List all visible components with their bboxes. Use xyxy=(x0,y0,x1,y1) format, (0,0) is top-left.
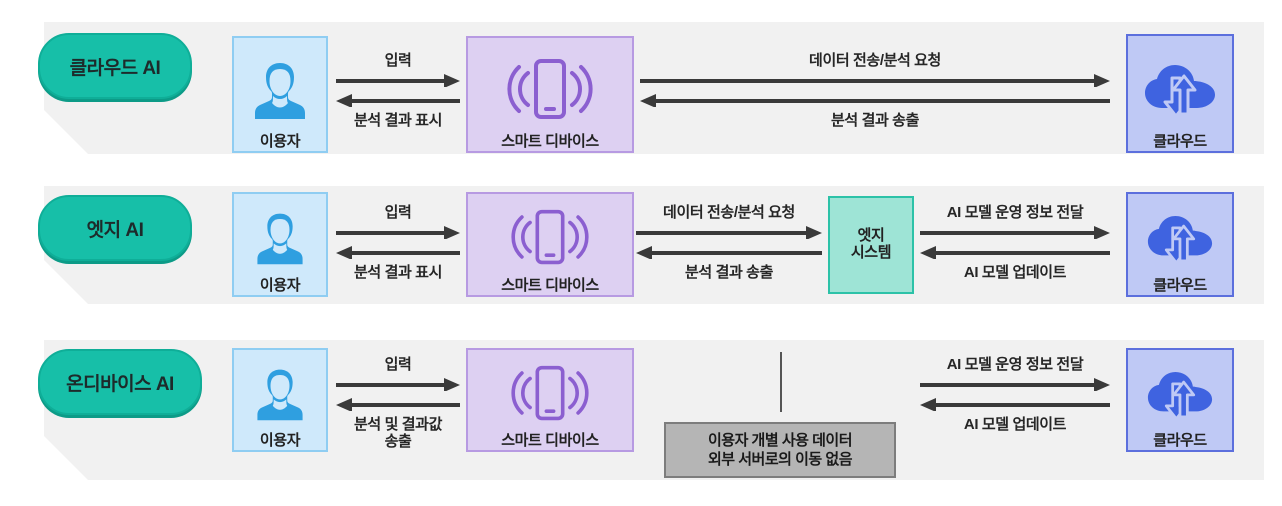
flow-label-backward: AI 모델 업데이트 xyxy=(920,416,1110,434)
privacy-note-box: 이용자 개별 사용 데이터 외부 서버로의 이동 없음 xyxy=(664,422,896,478)
flow-label-forward: 입력 xyxy=(336,204,460,222)
flow-device-edge-edge-ai: 데이터 전송/분석 요청 분석 결과 송출 xyxy=(636,204,822,281)
flow-label-backward: AI 모델 업데이트 xyxy=(920,264,1110,282)
flow-label-forward: 데이터 전송/분석 요청 xyxy=(640,52,1110,70)
node-caption-line2: 시스템 xyxy=(851,245,891,262)
user-icon xyxy=(254,46,306,134)
row-label-edge-ai: 엣지 AI xyxy=(38,195,192,261)
node-user-on-device-ai: 이용자 xyxy=(232,348,328,452)
flow-label-backward-line1: 분석 및 결과값 xyxy=(336,416,460,434)
node-cloud-on-device-ai: 클라우드 xyxy=(1126,348,1234,452)
flow-label-backward-line2: 송출 xyxy=(336,433,460,451)
arrow-right xyxy=(336,74,460,88)
node-cloud-cloud-ai: 클라우드 xyxy=(1126,34,1234,153)
arrow-left xyxy=(640,94,1110,108)
privacy-note-line1: 이용자 개별 사용 데이터 xyxy=(708,431,852,451)
flow-edge-cloud-edge-ai: AI 모델 운영 정보 전달 AI 모델 업데이트 xyxy=(920,204,1110,281)
diagram-canvas: 클라우드 AI 이용자 입력 분석 결과 표시 xyxy=(0,0,1282,506)
node-caption: 이용자 xyxy=(260,278,300,295)
node-caption: 스마트 디바이스 xyxy=(501,134,599,151)
cloud-sync-icon xyxy=(1144,44,1216,134)
smart-device-icon xyxy=(502,352,598,433)
arrow-left xyxy=(920,246,1110,260)
flow-user-device-on-device-ai: 입력 분석 및 결과값 송출 xyxy=(336,356,460,451)
node-smart-device-edge-ai: 스마트 디바이스 xyxy=(466,192,634,297)
vertical-divider xyxy=(780,352,782,412)
arrow-right xyxy=(336,378,460,392)
cloud-sync-icon xyxy=(1147,354,1213,433)
arrow-left xyxy=(336,398,460,412)
arrow-right xyxy=(336,226,460,240)
arrow-left xyxy=(636,246,822,260)
flow-label-forward: AI 모델 운영 정보 전달 xyxy=(920,356,1110,374)
arrow-right xyxy=(640,74,1110,88)
flow-label-forward: AI 모델 운영 정보 전달 xyxy=(920,204,1110,222)
flow-user-device-edge-ai: 입력 분석 결과 표시 xyxy=(336,204,460,281)
node-caption-line1: 엣지 xyxy=(858,228,885,245)
flow-label-backward: 분석 결과 표시 xyxy=(336,112,460,130)
node-caption: 스마트 디바이스 xyxy=(501,433,599,450)
flow-label-forward: 입력 xyxy=(336,356,460,374)
node-user-edge-ai: 이용자 xyxy=(232,192,328,297)
flow-device-cloud-on-device-ai: AI 모델 운영 정보 전달 AI 모델 업데이트 xyxy=(920,356,1110,433)
flow-label-forward: 입력 xyxy=(336,52,460,70)
flow-label-backward: 분석 결과 표시 xyxy=(336,264,460,282)
row-label-on-device-ai: 온디바이스 AI xyxy=(38,349,202,415)
cloud-sync-icon xyxy=(1147,198,1213,278)
node-smart-device-cloud-ai: 스마트 디바이스 xyxy=(466,36,634,153)
flow-device-cloud-cloud-ai: 데이터 전송/분석 요청 분석 결과 송출 xyxy=(640,52,1110,129)
node-caption: 클라우드 xyxy=(1153,134,1207,151)
node-caption: 이용자 xyxy=(260,433,300,450)
arrow-left xyxy=(336,246,460,260)
flow-label-backward: 분석 결과 송출 xyxy=(636,264,822,282)
arrow-left xyxy=(336,94,460,108)
node-caption: 클라우드 xyxy=(1153,278,1207,295)
arrow-left xyxy=(920,398,1110,412)
arrow-right xyxy=(920,226,1110,240)
node-edge-system: 엣지 시스템 xyxy=(828,196,914,294)
privacy-note-line2: 외부 서버로의 이동 없음 xyxy=(708,450,852,470)
arrow-right xyxy=(920,378,1110,392)
row-label-cloud-ai: 클라우드 AI xyxy=(38,33,192,99)
flow-user-device-cloud-ai: 입력 분석 결과 표시 xyxy=(336,52,460,129)
node-cloud-edge-ai: 클라우드 xyxy=(1126,192,1234,297)
flow-label-forward: 데이터 전송/분석 요청 xyxy=(636,204,822,222)
user-icon xyxy=(256,198,304,278)
arrow-right xyxy=(636,226,822,240)
node-smart-device-on-device-ai: 스마트 디바이스 xyxy=(466,348,634,452)
smart-device-icon xyxy=(502,196,598,278)
node-caption: 클라우드 xyxy=(1153,433,1207,450)
smart-device-icon xyxy=(498,44,602,134)
node-caption: 이용자 xyxy=(260,134,300,151)
node-caption: 스마트 디바이스 xyxy=(501,278,599,295)
flow-label-backward: 분석 결과 송출 xyxy=(640,112,1110,130)
user-icon xyxy=(256,354,304,433)
node-user-cloud-ai: 이용자 xyxy=(232,36,328,153)
